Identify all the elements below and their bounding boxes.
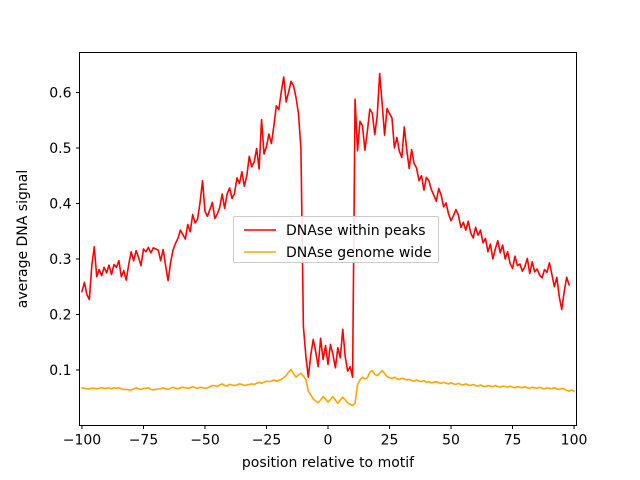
x-tick-label: −75 — [129, 433, 159, 449]
x-tick-label: −25 — [252, 433, 282, 449]
y-axis-title: average DNA signal — [15, 170, 31, 308]
y-tick-label: 0.6 — [49, 85, 71, 101]
legend-label-dnase-within-peaks: DNAse within peaks — [286, 223, 426, 239]
x-tick-label: 0 — [324, 433, 333, 449]
y-tick-label: 0.1 — [49, 363, 71, 379]
y-tick-label: 0.3 — [49, 252, 71, 268]
x-tick-label: −100 — [63, 433, 101, 449]
legend-label-dnase-genome-wide: DNAse genome wide — [286, 245, 432, 261]
chart-plot: −100−75−50−250255075100 0.10.20.30.40.50… — [0, 0, 640, 480]
x-tick-label: 50 — [442, 433, 460, 449]
x-tick-label: −50 — [190, 433, 220, 449]
x-tick-label: 100 — [561, 433, 588, 449]
x-axis-title: position relative to motif — [242, 455, 415, 471]
y-tick-label: 0.4 — [49, 196, 71, 212]
chart-legend[interactable]: DNAse within peaks DNAse genome wide — [234, 217, 439, 263]
x-tick-label: 75 — [504, 433, 522, 449]
y-tick-label: 0.2 — [49, 307, 71, 323]
x-tick-label: 25 — [381, 433, 399, 449]
y-tick-label: 0.5 — [49, 141, 71, 157]
figure-canvas: −100−75−50−250255075100 0.10.20.30.40.50… — [0, 0, 640, 480]
